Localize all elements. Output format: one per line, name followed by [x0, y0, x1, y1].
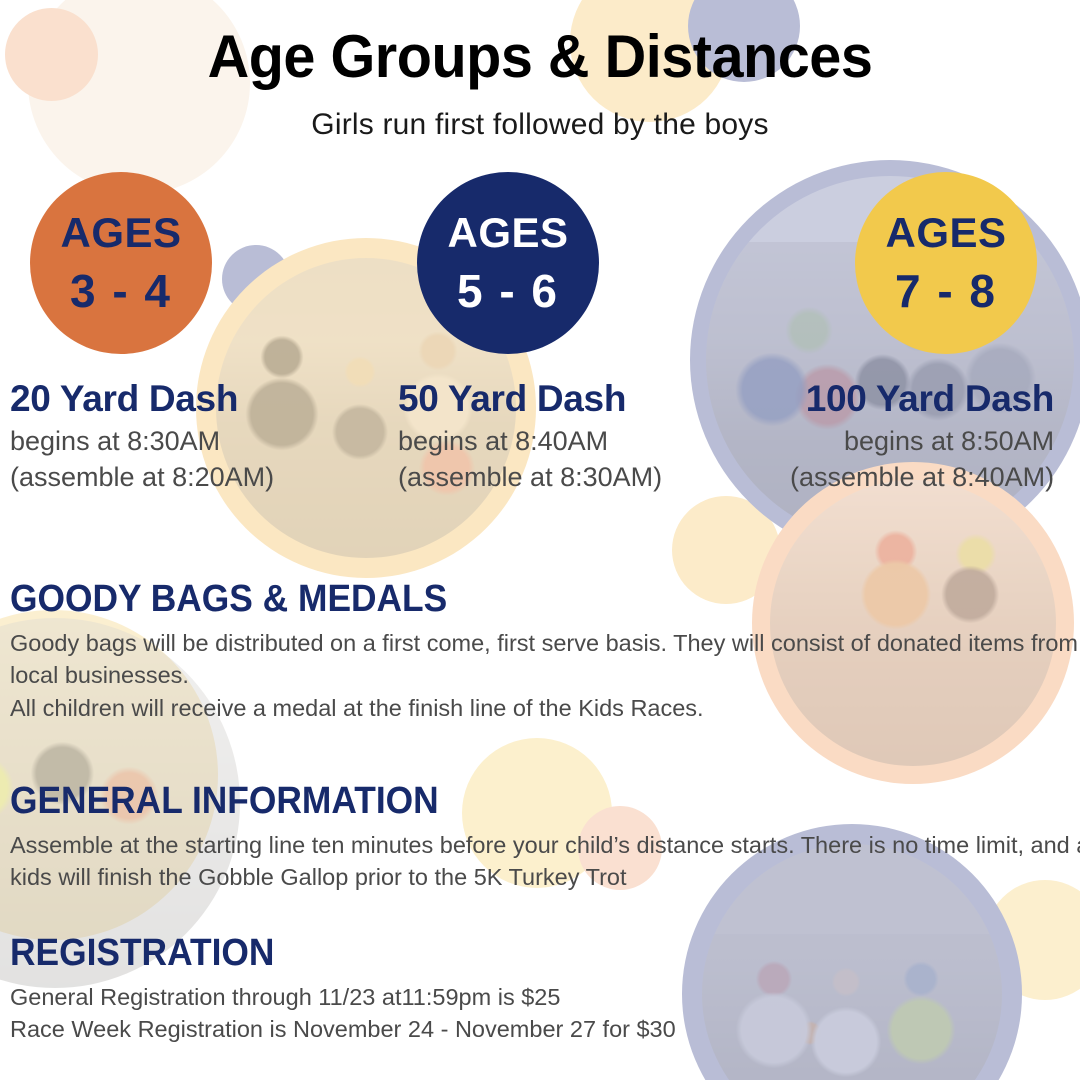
distance-assemble: (assemble at 8:30AM) — [398, 460, 662, 496]
distance-begins: begins at 8:30AM — [10, 424, 274, 460]
page-title: Age Groups & Distances — [22, 22, 1059, 91]
section-heading: GOODY BAGS & MEDALS — [10, 578, 1003, 621]
distance-block-7-8: 100 Yard Dash begins at 8:50AM (assemble… — [790, 378, 1054, 496]
distance-block-3-4: 20 Yard Dash begins at 8:30AM (assemble … — [10, 378, 274, 496]
section-goody-bags: GOODY BAGS & MEDALS Goody bags will be d… — [10, 578, 1078, 724]
section-line: Race Week Registration is November 24 - … — [10, 1013, 676, 1045]
distance-begins: begins at 8:40AM — [398, 424, 662, 460]
age-badge-range: 3 - 4 — [70, 268, 172, 314]
age-badge-3-4: AGES 3 - 4 — [30, 172, 212, 354]
section-heading: REGISTRATION — [10, 932, 629, 975]
section-line: Goody bags will be distributed on a firs… — [10, 627, 1078, 659]
section-line: General Registration through 11/23 at11:… — [10, 981, 676, 1013]
distance-title: 100 Yard Dash — [790, 378, 1054, 420]
distance-assemble: (assemble at 8:40AM) — [790, 460, 1054, 496]
section-line: kids will finish the Gobble Gallop prior… — [10, 861, 1080, 893]
age-badge-5-6: AGES 5 - 6 — [417, 172, 599, 354]
age-badge-7-8: AGES 7 - 8 — [855, 172, 1037, 354]
age-badge-range: 7 - 8 — [895, 268, 997, 314]
page-subtitle: Girls run first followed by the boys — [0, 108, 1080, 142]
distance-begins: begins at 8:50AM — [790, 424, 1054, 460]
section-line: All children will receive a medal at the… — [10, 692, 1078, 724]
age-badge-word: AGES — [885, 212, 1006, 254]
age-badge-word: AGES — [60, 212, 181, 254]
section-line: Assemble at the starting line ten minute… — [10, 829, 1080, 861]
section-general-information: GENERAL INFORMATION Assemble at the star… — [10, 780, 1080, 894]
distance-block-5-6: 50 Yard Dash begins at 8:40AM (assemble … — [398, 378, 662, 496]
age-badge-word: AGES — [447, 212, 568, 254]
distance-title: 20 Yard Dash — [10, 378, 274, 420]
distance-title: 50 Yard Dash — [398, 378, 662, 420]
age-badge-range: 5 - 6 — [457, 268, 559, 314]
section-heading: GENERAL INFORMATION — [10, 780, 1024, 823]
poster-canvas: Age Groups & Distances Girls run first f… — [0, 0, 1080, 1080]
distance-assemble: (assemble at 8:20AM) — [10, 460, 274, 496]
section-registration: REGISTRATION General Registration throug… — [10, 932, 676, 1046]
section-line: local businesses. — [10, 659, 1078, 691]
